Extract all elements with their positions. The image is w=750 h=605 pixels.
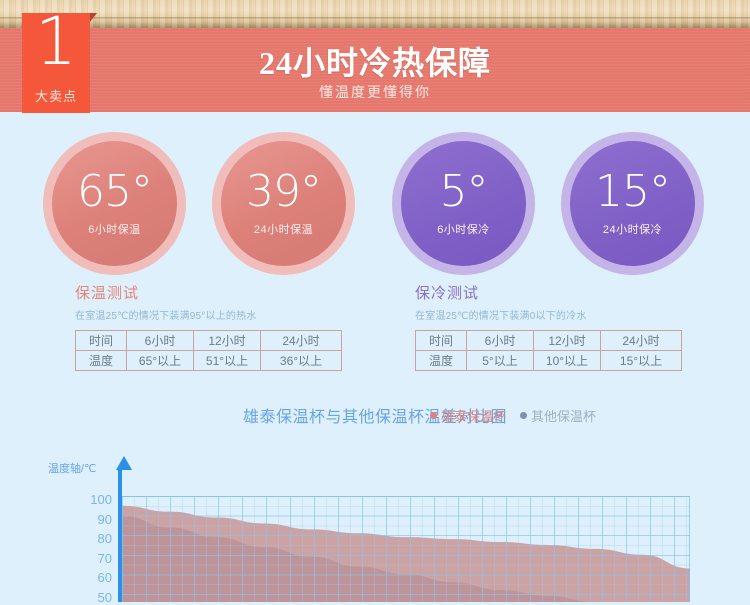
y-axis-tick-label: 80 <box>68 531 112 546</box>
table-cell: 24小时 <box>601 331 682 351</box>
legend-item-others: 其他保温杯 <box>520 406 596 425</box>
legend-label: 其他保温杯 <box>531 406 596 425</box>
cold-test-table: 时间 6小时 12小时 24小时 温度 5°以上 10°以上 15°以上 <box>415 330 682 371</box>
badge-caption: 大卖点 <box>22 86 90 105</box>
legend-dot-icon <box>430 412 437 419</box>
chart-plot-area <box>122 496 690 602</box>
chart-plot-border <box>122 496 690 602</box>
circle-core: 39° 24小时保温 <box>221 141 346 266</box>
y-axis-tick-label: 70 <box>68 551 112 566</box>
page-subtitle: 懂温度更懂得你 <box>0 82 750 102</box>
heat-test-table: 时间 6小时 12小时 24小时 温度 65°以上 51°以上 36°以上 <box>75 330 342 371</box>
cold-test-subtitle: 在室温25℃的情况下装满0以下的冷水 <box>415 307 682 322</box>
circle-core: 5° 6小时保冷 <box>401 141 526 266</box>
y-axis-tick-label: 90 <box>68 512 112 527</box>
table-cell: 6小时 <box>467 331 534 351</box>
table-cell: 温度 <box>76 351 127 371</box>
y-axis-label: 温度轴/℃ <box>48 460 96 476</box>
metric-circle-cold-6h: 5° 6小时保冷 <box>392 132 535 275</box>
table-cell: 65°以上 <box>127 351 194 371</box>
legend-item-xiongtai: 雄泰保温杯 <box>430 406 506 425</box>
table-cell: 10°以上 <box>534 351 601 371</box>
badge-number: 1 <box>22 9 90 75</box>
selling-point-badge: 1 大卖点 <box>22 13 90 113</box>
table-row: 温度 65°以上 51°以上 36°以上 <box>76 351 342 371</box>
circle-label: 6小时保温 <box>88 221 141 237</box>
section-banner: 24小时冷热保障 懂温度更懂得你 <box>0 28 750 112</box>
table-cell: 6小时 <box>127 331 194 351</box>
metric-circle-cold-24h: 15° 24小时保冷 <box>561 132 704 275</box>
y-axis-tick-label: 50 <box>68 590 112 605</box>
circle-label: 24小时保温 <box>254 221 313 237</box>
circle-value: 39° <box>246 170 321 214</box>
circle-value: 5° <box>440 170 488 214</box>
table-cell: 24小时 <box>261 331 342 351</box>
table-cell: 时间 <box>76 331 127 351</box>
wood-texture-strip <box>0 0 750 28</box>
y-axis-tick-label: 60 <box>68 570 112 585</box>
table-cell: 51°以上 <box>194 351 261 371</box>
circle-core: 65° 6小时保温 <box>52 141 177 266</box>
table-cell: 时间 <box>416 331 467 351</box>
y-axis-tick-label: 100 <box>68 492 112 507</box>
circle-label: 6小时保冷 <box>437 221 490 237</box>
legend-label: 雄泰保温杯 <box>441 406 506 425</box>
table-cell: 12小时 <box>534 331 601 351</box>
cold-retention-test-block: 保冷测试 在室温25℃的情况下装满0以下的冷水 时间 6小时 12小时 24小时… <box>415 282 682 371</box>
wood-edge-seam <box>0 17 750 19</box>
legend-dot-icon <box>520 412 527 419</box>
table-cell: 36°以上 <box>261 351 342 371</box>
circle-value: 65° <box>77 170 152 214</box>
table-cell: 15°以上 <box>601 351 682 371</box>
heat-test-subtitle: 在室温25℃的情况下装满95°以上的热水 <box>75 307 342 322</box>
heat-test-heading: 保温测试 <box>75 282 342 303</box>
metric-circle-hot-6h: 65° 6小时保温 <box>43 132 186 275</box>
table-cell: 温度 <box>416 351 467 371</box>
table-row: 温度 5°以上 10°以上 15°以上 <box>416 351 682 371</box>
page-title: 24小时冷热保障 <box>0 38 750 84</box>
chart-title: 雄泰保温杯与其他保温杯温差对比图 <box>0 403 750 427</box>
circle-label: 24小时保冷 <box>603 221 662 237</box>
table-row: 时间 6小时 12小时 24小时 <box>76 331 342 351</box>
circle-core: 15° 24小时保冷 <box>570 141 695 266</box>
badge-fold-corner <box>90 13 97 22</box>
chart-legend: 雄泰保温杯 其他保温杯 <box>430 406 596 425</box>
table-row: 时间 6小时 12小时 24小时 <box>416 331 682 351</box>
heat-retention-test-block: 保温测试 在室温25℃的情况下装满95°以上的热水 时间 6小时 12小时 24… <box>75 282 342 371</box>
table-cell: 5°以上 <box>467 351 534 371</box>
table-cell: 12小时 <box>194 331 261 351</box>
cold-test-heading: 保冷测试 <box>415 282 682 303</box>
circle-value: 15° <box>595 170 670 214</box>
metric-circle-hot-24h: 39° 24小时保温 <box>212 132 355 275</box>
